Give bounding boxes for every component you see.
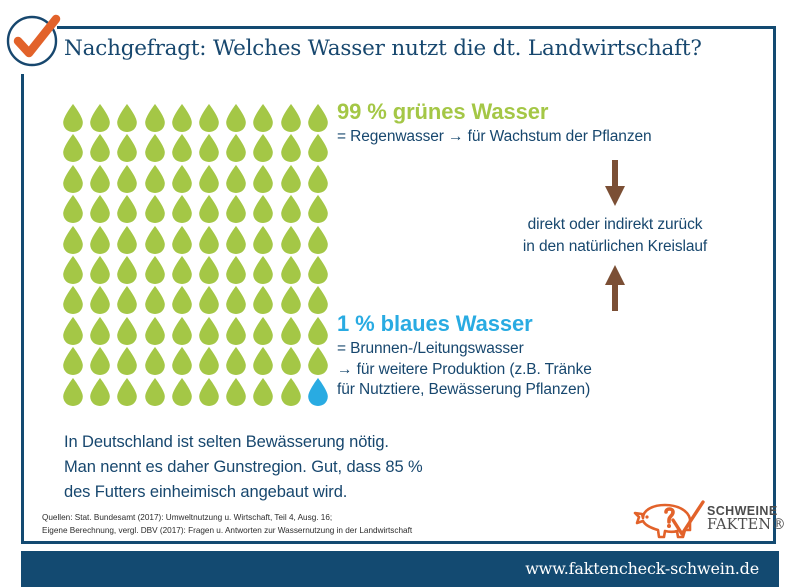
droplet-green-icon: [144, 317, 166, 345]
droplet-green-icon: [116, 165, 138, 193]
droplet-green-icon: [144, 195, 166, 223]
sources-line2: Eigene Berechnung, vergl. DBV (2017): Fr…: [42, 526, 412, 535]
droplet-green-icon: [62, 317, 84, 345]
droplet-green-icon: [144, 286, 166, 314]
droplet-green-icon: [252, 378, 274, 406]
droplet-green-icon: [252, 256, 274, 284]
droplet-green-icon: [198, 134, 220, 162]
droplet-pictogram-grid: [62, 104, 334, 408]
droplet-green-icon: [252, 165, 274, 193]
droplet-green-icon: [280, 256, 302, 284]
sources-line1: Quellen: Stat. Bundesamt (2017): Umweltn…: [42, 513, 332, 522]
closing-line2: Man nennt es daher Gunstregion. Gut, das…: [64, 458, 423, 476]
blue-water-line3: für Nutztiere, Bewässerung Pflanzen): [337, 381, 590, 398]
droplet-green-icon: [252, 195, 274, 223]
droplet-green-icon: [307, 165, 329, 193]
closing-paragraph: In Deutschland ist selten Bewässerung nö…: [64, 430, 584, 504]
page-title: Nachgefragt: Welches Wasser nutzt die dt…: [64, 36, 764, 61]
droplet-green-icon: [307, 195, 329, 223]
droplet-green-icon: [171, 256, 193, 284]
droplet-green-icon: [89, 317, 111, 345]
arrow-down-icon: [602, 160, 628, 206]
droplet-green-icon: [225, 134, 247, 162]
droplet-green-icon: [280, 104, 302, 132]
droplet-green-icon: [252, 134, 274, 162]
droplet-green-icon: [171, 347, 193, 375]
droplet-green-icon: [307, 317, 329, 345]
droplet-green-icon: [198, 317, 220, 345]
droplet-green-icon: [198, 226, 220, 254]
droplet-green-icon: [144, 378, 166, 406]
brand-line-2: FAKTEN®: [707, 518, 786, 533]
droplet-green-icon: [171, 378, 193, 406]
droplet-green-icon: [62, 195, 84, 223]
sources-note: Quellen: Stat. Bundesamt (2017): Umweltn…: [42, 512, 562, 537]
droplet-green-icon: [62, 165, 84, 193]
water-cycle-group: direkt oder indirekt zurück in den natür…: [470, 160, 760, 311]
droplet-green-icon: [144, 104, 166, 132]
droplet-green-icon: [252, 286, 274, 314]
closing-line1: In Deutschland ist selten Bewässerung nö…: [64, 433, 389, 451]
droplet-green-icon: [225, 256, 247, 284]
footer-bar: www.faktencheck-schwein.de: [21, 551, 779, 587]
droplet-green-icon: [116, 104, 138, 132]
droplet-green-icon: [89, 104, 111, 132]
droplet-green-icon: [252, 226, 274, 254]
droplet-green-icon: [225, 226, 247, 254]
arrow-up-icon: [602, 265, 628, 311]
droplet-blue-icon: [307, 378, 329, 406]
droplet-green-icon: [144, 347, 166, 375]
droplet-green-icon: [116, 347, 138, 375]
droplet-green-icon: [171, 195, 193, 223]
droplet-green-icon: [116, 134, 138, 162]
droplet-green-icon: [198, 165, 220, 193]
infographic-canvas: Nachgefragt: Welches Wasser nutzt die dt…: [0, 0, 800, 587]
green-water-headline: 99 % grünes Wasser: [337, 99, 757, 125]
droplet-green-icon: [171, 104, 193, 132]
droplet-green-icon: [116, 226, 138, 254]
droplet-green-icon: [280, 195, 302, 223]
droplet-green-icon: [307, 104, 329, 132]
droplet-green-icon: [280, 134, 302, 162]
droplet-green-icon: [225, 195, 247, 223]
droplet-green-icon: [225, 165, 247, 193]
droplet-green-icon: [198, 195, 220, 223]
pig-question-check-icon: [633, 500, 711, 542]
droplet-green-icon: [198, 347, 220, 375]
droplet-green-icon: [89, 195, 111, 223]
blue-water-headline: 1 % blaues Wasser: [337, 311, 757, 337]
droplet-green-icon: [62, 286, 84, 314]
droplet-green-icon: [89, 256, 111, 284]
water-cycle-text: direkt oder indirekt zurück in den natür…: [470, 214, 760, 259]
droplet-green-icon: [280, 165, 302, 193]
droplet-green-icon: [171, 134, 193, 162]
droplet-green-icon: [62, 347, 84, 375]
closing-line3: des Futters einheimisch angebaut wird.: [64, 483, 347, 501]
droplet-green-icon: [225, 317, 247, 345]
droplet-green-icon: [280, 347, 302, 375]
droplet-green-icon: [252, 347, 274, 375]
droplet-green-icon: [116, 195, 138, 223]
water-cycle-line1: direkt oder indirekt zurück: [528, 216, 703, 233]
droplet-green-icon: [280, 286, 302, 314]
frame-border-right: [773, 26, 776, 544]
water-cycle-line2: in den natürlichen Kreislauf: [523, 238, 707, 255]
droplet-green-icon: [280, 226, 302, 254]
droplet-green-icon: [171, 317, 193, 345]
droplet-green-icon: [116, 317, 138, 345]
droplet-green-icon: [252, 317, 274, 345]
droplet-green-icon: [171, 226, 193, 254]
droplet-green-icon: [144, 226, 166, 254]
droplet-green-icon: [307, 256, 329, 284]
droplet-green-icon: [89, 165, 111, 193]
droplet-green-icon: [144, 165, 166, 193]
droplet-green-icon: [144, 134, 166, 162]
droplet-green-icon: [62, 134, 84, 162]
droplet-green-icon: [116, 378, 138, 406]
droplet-green-icon: [307, 347, 329, 375]
blue-water-line2: → für weitere Produktion (z.B. Tränke: [337, 361, 592, 378]
brand-wordmark: SCHWEINE FAKTEN®: [707, 505, 786, 533]
droplet-green-icon: [62, 226, 84, 254]
droplet-green-icon: [225, 347, 247, 375]
droplet-green-icon: [62, 104, 84, 132]
droplet-green-icon: [198, 286, 220, 314]
droplet-green-icon: [89, 226, 111, 254]
droplet-green-icon: [225, 104, 247, 132]
droplet-green-icon: [280, 317, 302, 345]
check-circle-icon: [4, 8, 66, 70]
frame-border-top: [57, 26, 776, 29]
droplet-green-icon: [89, 134, 111, 162]
droplet-green-icon: [89, 378, 111, 406]
blue-water-subtext: = Brunnen-/Leitungswasser → für weitere …: [337, 339, 757, 401]
droplet-green-icon: [62, 256, 84, 284]
droplet-green-icon: [307, 226, 329, 254]
droplet-green-icon: [307, 134, 329, 162]
droplet-green-icon: [89, 347, 111, 375]
green-water-subtext: = Regenwasser → für Wachstum der Pflanze…: [337, 127, 757, 147]
brand-logo: SCHWEINE FAKTEN®: [633, 500, 769, 542]
droplet-green-icon: [171, 286, 193, 314]
droplet-green-icon: [116, 256, 138, 284]
blue-water-line1: = Brunnen-/Leitungswasser: [337, 340, 524, 357]
droplet-green-icon: [198, 104, 220, 132]
droplet-green-icon: [225, 378, 247, 406]
droplet-green-icon: [144, 256, 166, 284]
droplet-green-icon: [198, 378, 220, 406]
droplet-green-icon: [89, 286, 111, 314]
droplet-green-icon: [252, 104, 274, 132]
frame-border-left: [21, 74, 24, 544]
footer-website-url[interactable]: www.faktencheck-schwein.de: [525, 559, 759, 578]
green-water-block: 99 % grünes Wasser = Regenwasser → für W…: [337, 99, 757, 147]
droplet-green-icon: [198, 256, 220, 284]
droplet-green-icon: [307, 286, 329, 314]
blue-water-block: 1 % blaues Wasser = Brunnen-/Leitungswas…: [337, 311, 757, 401]
droplet-green-icon: [171, 165, 193, 193]
droplet-green-icon: [62, 378, 84, 406]
droplet-green-icon: [280, 378, 302, 406]
droplet-green-icon: [116, 286, 138, 314]
droplet-green-icon: [225, 286, 247, 314]
